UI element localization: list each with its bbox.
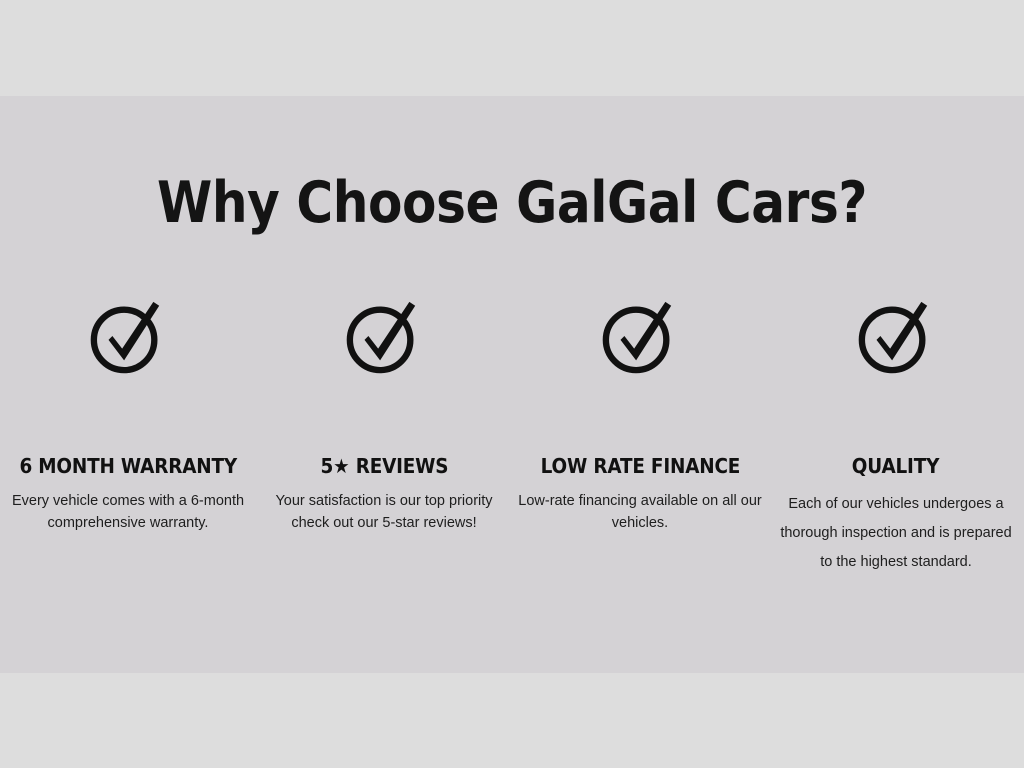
feature-item-reviews: 5★ REVIEWS Your satisfaction is our top …	[256, 296, 512, 534]
feature-list: 6 MONTH WARRANTY Every vehicle comes wit…	[0, 296, 1024, 577]
check-circle-icon	[601, 296, 679, 376]
feature-body: Each of our vehicles undergoes a thoroug…	[774, 490, 1018, 577]
feature-body: Low-rate financing available on all our …	[516, 490, 764, 534]
feature-title: LOW RATE FINANCE	[540, 454, 740, 478]
page-root: Why Choose GalGal Cars? 6 MONTH WARRANTY…	[0, 0, 1024, 768]
check-circle-icon	[345, 296, 423, 376]
feature-title: 6 MONTH WARRANTY	[19, 454, 237, 478]
page-title: Why Choose GalGal Cars?	[61, 168, 962, 238]
feature-item-warranty: 6 MONTH WARRANTY Every vehicle comes wit…	[0, 296, 256, 534]
feature-title: QUALITY	[852, 454, 939, 478]
check-circle-icon	[89, 296, 167, 376]
feature-item-quality: QUALITY Each of our vehicles undergoes a…	[768, 296, 1024, 577]
feature-title: 5★ REVIEWS	[320, 454, 448, 478]
check-circle-icon	[857, 296, 935, 376]
feature-item-finance: LOW RATE FINANCE Low-rate financing avai…	[512, 296, 768, 534]
feature-body: Every vehicle comes with a 6-month compr…	[4, 490, 252, 534]
feature-body: Your satisfaction is our top priority ch…	[260, 490, 508, 534]
